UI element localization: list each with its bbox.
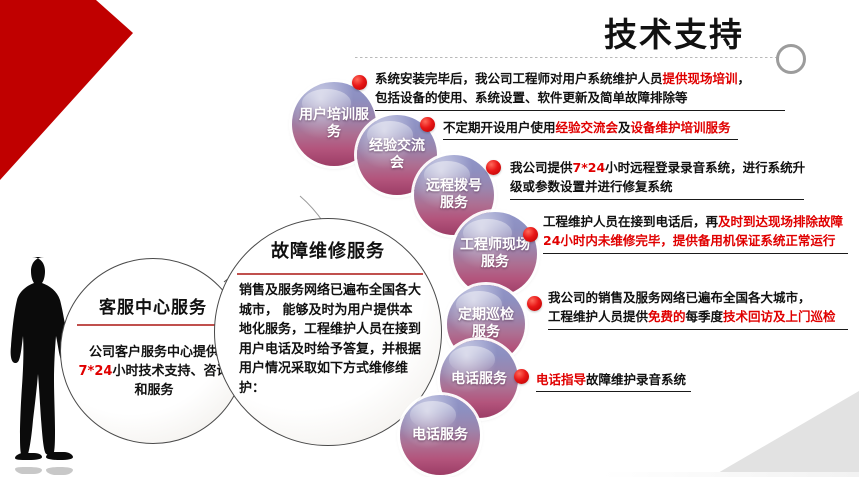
bullet-dot-4 bbox=[527, 296, 542, 311]
seg-red: 电话指导 bbox=[536, 372, 586, 387]
seg-red: 技术回访及上门巡检 bbox=[723, 309, 836, 324]
gray-corner-decoration bbox=[689, 391, 859, 477]
text-item-remote-login: 我公司提供7*24小时远程登录录音系统，进行系统升 级或参数设置并进行修复系统 bbox=[510, 158, 850, 200]
text-line: 工程维护人员提供免费的每季度技术回访及上门巡检 bbox=[548, 307, 853, 326]
underline bbox=[510, 199, 804, 200]
text-line: 不定期开设用户使用经验交流会及设备维护培训服务 bbox=[443, 118, 803, 137]
seg-red: 及时到达现场排除故障 bbox=[718, 214, 843, 229]
seg: 系统安装完毕后，我公司工程师对用户系统维护人员 bbox=[375, 71, 663, 86]
red-corner-decoration bbox=[0, 0, 140, 185]
person-silhouette-reflection bbox=[6, 452, 82, 476]
slide-canvas: 技术支持 客服中心服务 公司客户服务中心提供7*24小时技术支持、咨询和服务 故… bbox=[0, 0, 859, 477]
seg: ， bbox=[738, 71, 751, 86]
text-line: 电话指导故障维护录音系统 bbox=[536, 370, 776, 389]
seg-red: 免费的 bbox=[648, 309, 686, 324]
underline bbox=[543, 253, 848, 254]
seg-red: 7*24 bbox=[573, 160, 606, 175]
circle2-title: 故障维修服务 bbox=[215, 237, 441, 263]
text-line: 系统安装完毕后，我公司工程师对用户系统维护人员提供现场培训， bbox=[375, 69, 800, 88]
seg: 包括设备的使用、系统设置、软件更新及简单故障排除等 bbox=[375, 90, 688, 105]
sphere-label-6: 电话服务 bbox=[406, 427, 474, 444]
underline bbox=[375, 110, 785, 111]
seg-red: 经验交流会 bbox=[556, 120, 619, 135]
seg: 工程维护人员在接到电话后，再 bbox=[543, 214, 718, 229]
circle1-body-pre: 公司客户服务中心提供 bbox=[89, 345, 219, 360]
circle1-body-post: 小时技术支持、咨询和服务 bbox=[112, 364, 229, 398]
sphere-label-5: 电话服务 bbox=[445, 371, 513, 388]
circle2-divider bbox=[237, 273, 423, 275]
underline bbox=[548, 329, 848, 330]
circle1-arrow-icon bbox=[77, 320, 233, 330]
bullet-dot-0 bbox=[352, 75, 367, 90]
text-item-engineer-onsite: 工程维护人员在接到电话后，再及时到达现场排除故障 24小时内未维修完毕，提供备用… bbox=[543, 212, 855, 254]
seg: 我公司的销售及服务网络已遍布全国各大城市， bbox=[548, 290, 811, 305]
circle2-body: 销售及服务网络已遍布全国各大城市， 能够及时为用户提供本地化服务，工程维护人员在… bbox=[239, 281, 421, 398]
circle1-body-highlight: 7*24 bbox=[79, 364, 113, 379]
text-item-experience-exchange: 不定期开设用户使用经验交流会及设备维护培训服务 bbox=[443, 118, 803, 140]
seg: 工程维护人员提供 bbox=[548, 309, 648, 324]
seg: 及 bbox=[618, 120, 631, 135]
text-line: 我公司的销售及服务网络已遍布全国各大城市， bbox=[548, 288, 853, 307]
bullet-dot-2 bbox=[486, 160, 501, 175]
header-dotted-rule bbox=[355, 57, 787, 59]
seg-red: 设备维护培训服务 bbox=[631, 120, 731, 135]
seg: 不定期开设用户使用 bbox=[443, 120, 556, 135]
circle1-body: 公司客户服务中心提供7*24小时技术支持、咨询和服务 bbox=[75, 344, 233, 401]
seg: 级或参数设置并进行修复系统 bbox=[510, 179, 673, 194]
underline bbox=[443, 139, 738, 140]
text-line: 24小时内未维修完毕，提供备用机保证系统正常运行 bbox=[543, 231, 855, 250]
text-item-periodic-inspection: 我公司的销售及服务网络已遍布全国各大城市， 工程维护人员提供免费的每季度技术回访… bbox=[548, 288, 853, 330]
sphere-label-2: 远程拨号服务 bbox=[414, 178, 494, 212]
text-item-onsite-training: 系统安装完毕后，我公司工程师对用户系统维护人员提供现场培训， 包括设备的使用、系… bbox=[375, 69, 800, 111]
seg: 我公司提供 bbox=[510, 160, 573, 175]
seg: 小时远程登录录音系统，进行系统升 bbox=[605, 160, 805, 175]
bullet-dot-3 bbox=[523, 227, 538, 242]
text-line: 我公司提供7*24小时远程登录录音系统，进行系统升 bbox=[510, 158, 850, 177]
underline bbox=[536, 391, 691, 392]
bullet-dot-1 bbox=[420, 117, 435, 132]
sphere-label-4: 定期巡检服务 bbox=[447, 307, 525, 341]
seg: 每季度 bbox=[686, 309, 724, 324]
seg-red: 24小时内未维修完毕，提供备用机保证系统正常运行 bbox=[543, 233, 835, 248]
text-line: 包括设备的使用、系统设置、软件更新及简单故障排除等 bbox=[375, 88, 800, 107]
sphere-engineer-onsite-service[interactable]: 工程师现场服务 bbox=[453, 212, 537, 296]
seg: 故障维护录音系统 bbox=[586, 372, 686, 387]
sphere-phone-service-bottom[interactable]: 电话服务 bbox=[400, 395, 480, 475]
bullet-dot-5 bbox=[514, 369, 529, 384]
text-line: 级或参数设置并进行修复系统 bbox=[510, 177, 850, 196]
text-line: 工程维护人员在接到电话后，再及时到达现场排除故障 bbox=[543, 212, 855, 231]
sphere-label-3: 工程师现场服务 bbox=[453, 237, 537, 271]
text-item-phone-guidance: 电话指导故障维护录音系统 bbox=[536, 370, 776, 392]
page-title: 技术支持 bbox=[604, 8, 744, 56]
seg-red: 提供现场培训 bbox=[663, 71, 738, 86]
